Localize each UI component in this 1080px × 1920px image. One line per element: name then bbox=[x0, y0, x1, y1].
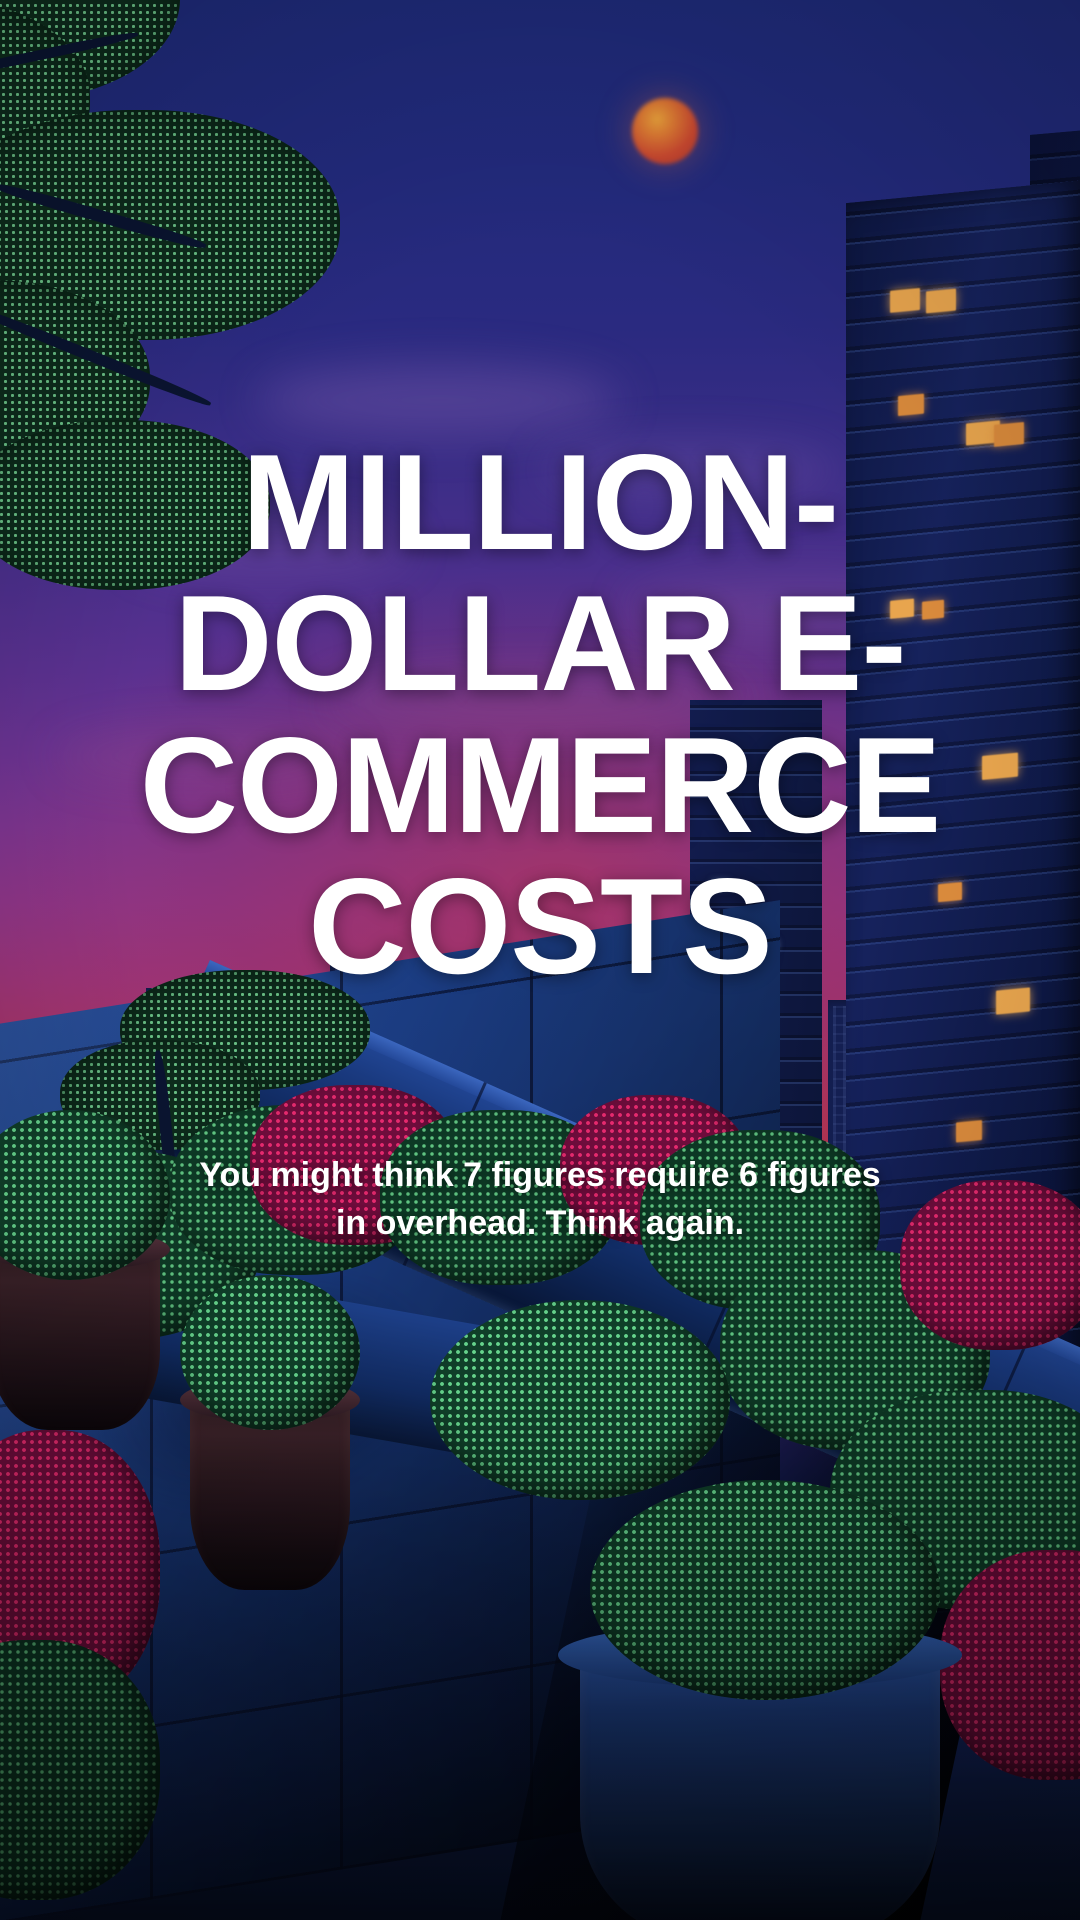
poster-canvas: MILLION-DOLLAR E-COMMERCE COSTS You migh… bbox=[0, 0, 1080, 1920]
page-subtitle: You might think 7 figures require 6 figu… bbox=[190, 1152, 890, 1247]
page-title: MILLION-DOLLAR E-COMMERCE COSTS bbox=[40, 432, 1040, 998]
text-overlay: MILLION-DOLLAR E-COMMERCE COSTS You migh… bbox=[0, 0, 1080, 1920]
